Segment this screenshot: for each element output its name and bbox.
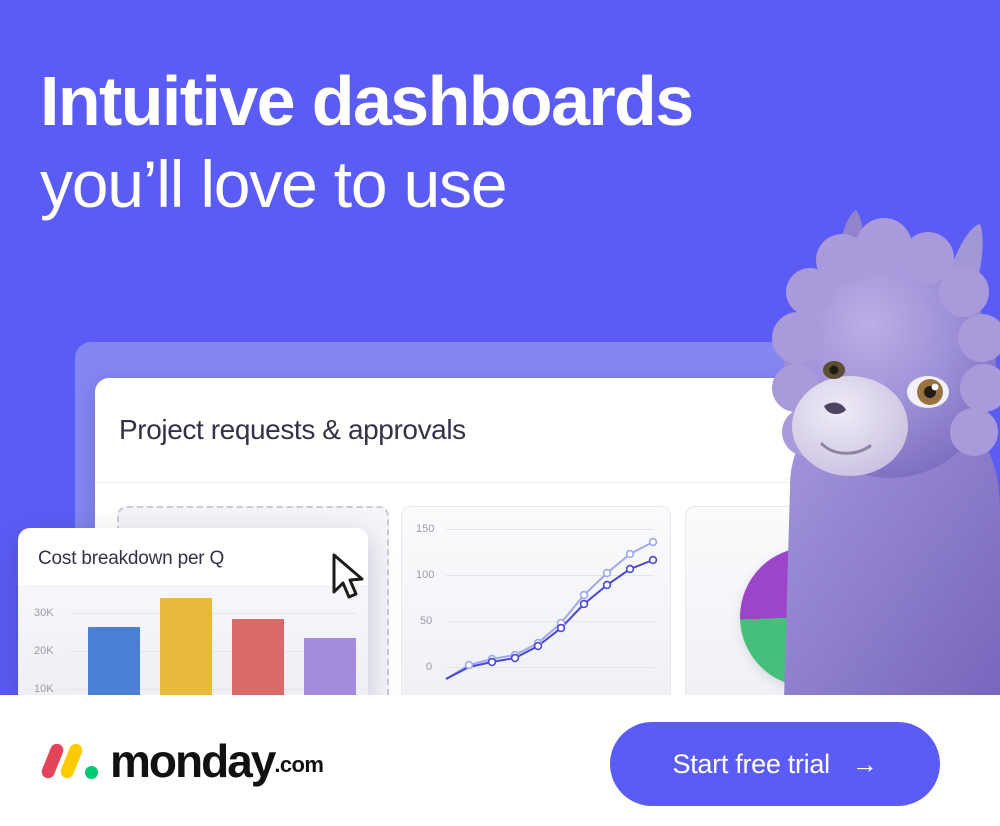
bar-q2 bbox=[160, 598, 212, 706]
mouse-pointer-icon bbox=[330, 552, 372, 604]
monday-logo-mark bbox=[44, 741, 104, 781]
logo-dot-green bbox=[85, 766, 98, 779]
logo-wordmark: monday bbox=[110, 738, 274, 784]
monday-logo[interactable]: monday .com bbox=[44, 738, 323, 784]
bar-ytick-10k: 10K bbox=[34, 683, 54, 695]
widget-title: Cost breakdown per Q bbox=[38, 548, 224, 570]
gridline bbox=[70, 613, 356, 614]
alpaca-mascot bbox=[738, 188, 1000, 700]
alpaca-muzzle bbox=[792, 376, 908, 476]
headline-line-1: Intuitive dashboards bbox=[40, 62, 960, 140]
logo-tld: .com bbox=[274, 752, 323, 778]
page-title: Project requests & approvals bbox=[119, 414, 466, 446]
dragged-widget-card[interactable]: Cost breakdown per Q 30K 20K 10K bbox=[18, 528, 368, 706]
start-free-trial-button[interactable]: Start free trial → bbox=[610, 722, 940, 806]
bar-q3 bbox=[232, 619, 284, 706]
arrow-right-icon: → bbox=[852, 751, 878, 777]
widget-line-chart[interactable]: 150 100 50 0 bbox=[401, 506, 671, 702]
line-series-dark bbox=[446, 560, 653, 679]
line-markers-light bbox=[466, 539, 657, 669]
bar-ytick-30k: 30K bbox=[34, 607, 54, 619]
bar-chart-plot: 30K 20K 10K bbox=[18, 587, 368, 706]
line-chart-svg bbox=[402, 507, 670, 702]
bar-ytick-20k: 20K bbox=[34, 645, 54, 657]
line-markers-dark bbox=[489, 557, 657, 666]
ad-banner: Intuitive dashboards you’ll love to use … bbox=[0, 0, 1000, 826]
line-series-light bbox=[446, 542, 653, 679]
cta-label: Start free trial bbox=[673, 749, 830, 780]
